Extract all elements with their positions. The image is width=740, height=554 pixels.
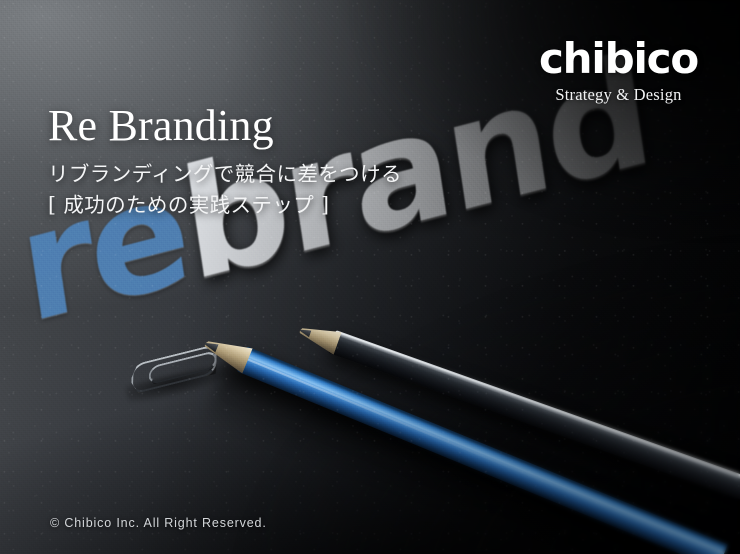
- title-block: Re Branding リブランディングで競合に差をつける [ 成功のための実践…: [48, 103, 402, 219]
- page-title: Re Branding: [48, 103, 402, 149]
- copyright-notice: © Chibico Inc. All Right Reserved.: [50, 516, 267, 530]
- presentation-slide: rebrand chibico Strategy & Desi: [0, 0, 740, 554]
- subtitle-line-1: リブランディングで競合に差をつける: [48, 161, 402, 188]
- brand-logo-wordmark: chibico: [539, 38, 698, 80]
- brand-logo-tagline: Strategy & Design: [539, 87, 698, 104]
- brand-logo: chibico Strategy & Design: [539, 38, 698, 104]
- subtitle-line-2: [ 成功のための実践ステップ ]: [48, 192, 402, 219]
